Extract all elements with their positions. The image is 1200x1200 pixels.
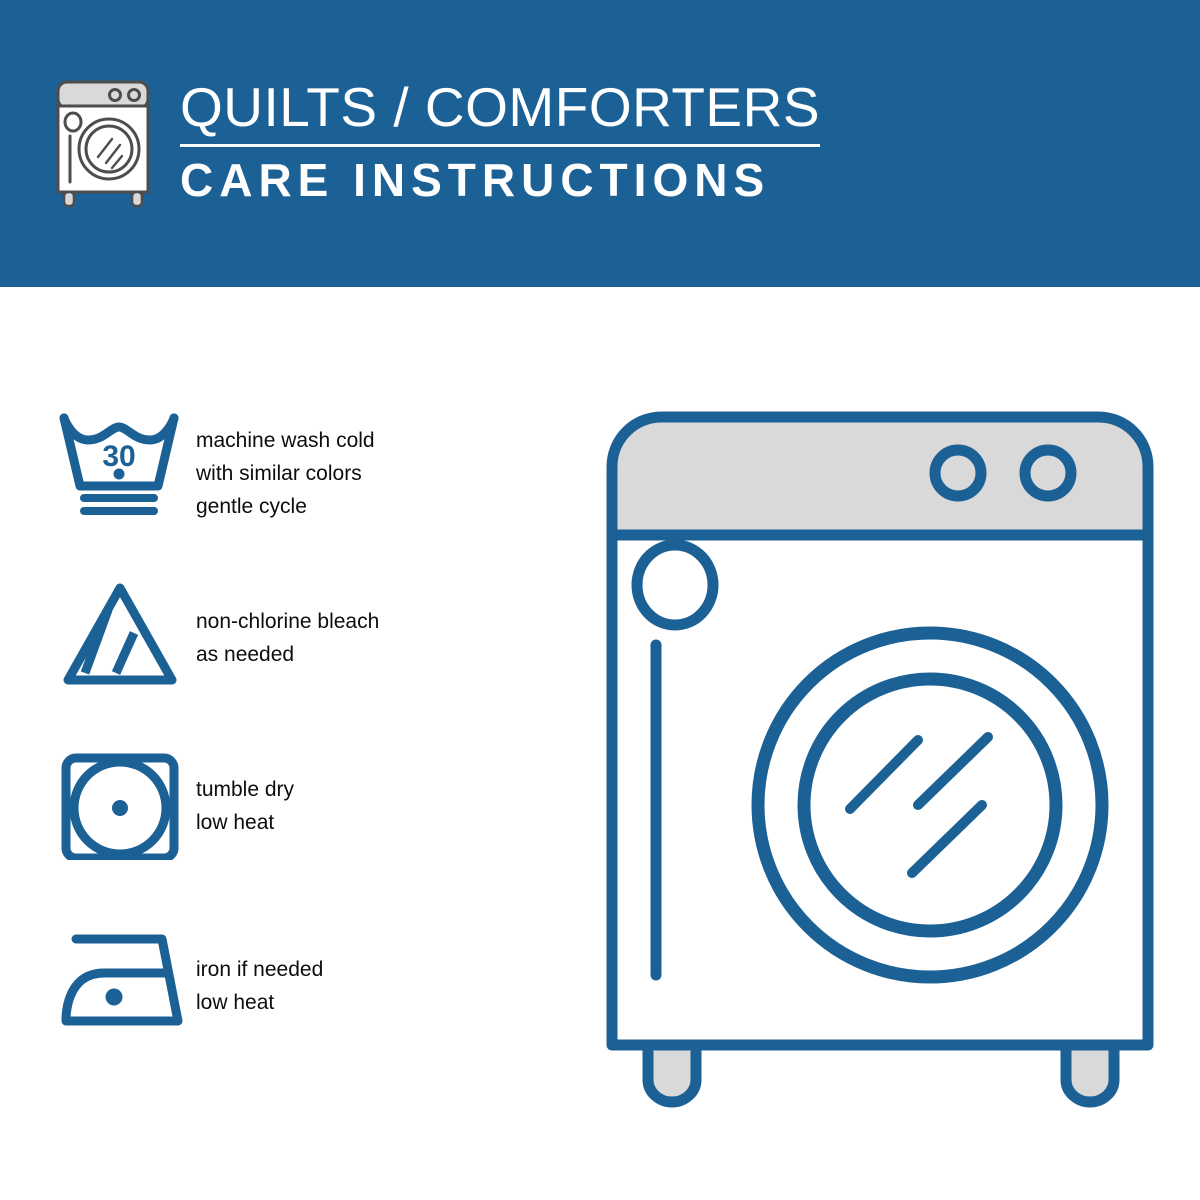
care-text-bleach: non-chlorine bleach as needed: [196, 580, 379, 671]
care-text-line: gentle cycle: [196, 490, 375, 523]
care-icon-wrap-bleach: [58, 580, 188, 690]
care-item-bleach: non-chlorine bleach as needed: [0, 580, 540, 750]
care-text-line: with similar colors: [196, 457, 375, 490]
care-text-line: iron if needed: [196, 953, 323, 986]
leg-right: [1066, 1045, 1114, 1102]
care-icon-wrap-dry: [58, 750, 188, 860]
care-text-iron: iron if needed low heat: [196, 925, 323, 1019]
care-item-wash: 30 machine wash cold with similar colors…: [0, 410, 540, 580]
care-text-wash: machine wash cold with similar colors ge…: [196, 410, 375, 523]
wash-basin-icon: 30: [58, 410, 180, 520]
iron-icon: [58, 925, 188, 1035]
wash-dot: [114, 469, 125, 480]
dry-heat-dot: [112, 800, 128, 816]
leg-left: [648, 1045, 696, 1102]
care-text-line: non-chlorine bleach: [196, 605, 379, 638]
header-content: QUILTS / COMFORTERS CARE INSTRUCTIONS: [52, 78, 820, 210]
header-title-block: QUILTS / COMFORTERS CARE INSTRUCTIONS: [180, 78, 820, 203]
header-banner: QUILTS / COMFORTERS CARE INSTRUCTIONS: [0, 0, 1200, 287]
care-instruction-list: 30 machine wash cold with similar colors…: [0, 410, 540, 1075]
washing-machine-icon: [52, 78, 160, 210]
care-item-iron: iron if needed low heat: [0, 925, 540, 1075]
care-item-tumble-dry: tumble dry low heat: [0, 750, 540, 925]
care-text-line: tumble dry: [196, 773, 294, 806]
care-text-dry: tumble dry low heat: [196, 750, 294, 839]
care-text-line: as needed: [196, 638, 379, 671]
tumble-dry-icon: [58, 750, 180, 860]
care-icon-wrap-iron: [58, 925, 188, 1035]
care-icon-wrap-wash: 30: [58, 410, 188, 520]
iron-heat-dot: [106, 989, 123, 1006]
care-text-line: low heat: [196, 986, 323, 1019]
care-text-line: machine wash cold: [196, 424, 375, 457]
page-title: QUILTS / COMFORTERS: [180, 80, 820, 135]
bleach-triangle-icon: [58, 580, 180, 690]
title-divider: [180, 144, 820, 147]
care-instructions-page: QUILTS / COMFORTERS CARE INSTRUCTIONS 30: [0, 0, 1200, 1200]
care-text-line: low heat: [196, 806, 294, 839]
wash-temperature-label: 30: [102, 440, 135, 473]
washing-machine-illustration: [600, 405, 1160, 1115]
page-subtitle: CARE INSTRUCTIONS: [180, 157, 820, 203]
